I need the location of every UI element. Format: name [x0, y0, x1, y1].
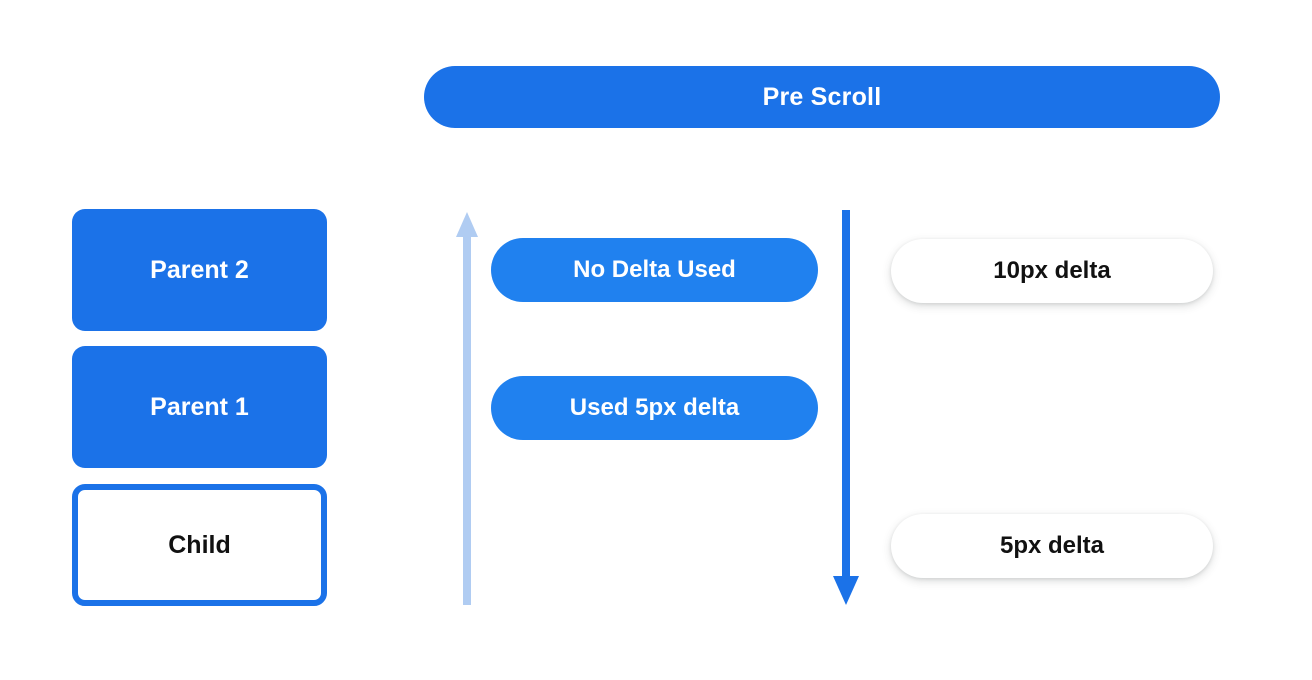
pill-no-delta-used: No Delta Used [491, 238, 818, 302]
node-parent-2-label: Parent 2 [150, 256, 249, 285]
node-parent-1: Parent 1 [72, 346, 327, 468]
pill-10px-delta-label: 10px delta [993, 257, 1110, 285]
pre-scroll-header-label: Pre Scroll [763, 83, 882, 112]
pill-used-5px-delta-label: Used 5px delta [570, 394, 739, 422]
pre-scroll-header: Pre Scroll [424, 66, 1220, 128]
pill-5px-delta-label: 5px delta [1000, 532, 1104, 560]
pill-10px-delta: 10px delta [891, 239, 1213, 303]
node-child-label: Child [168, 531, 231, 560]
pill-no-delta-used-label: No Delta Used [573, 256, 736, 284]
pill-used-5px-delta: Used 5px delta [491, 376, 818, 440]
node-parent-1-label: Parent 1 [150, 393, 249, 422]
pill-5px-delta: 5px delta [891, 514, 1213, 578]
node-parent-2: Parent 2 [72, 209, 327, 331]
diagram-canvas: Pre Scroll Parent 2 Parent 1 Child No De… [0, 0, 1312, 680]
node-child: Child [72, 484, 327, 606]
scroll-down-arrow-icon [833, 210, 859, 606]
scroll-up-arrow-icon [456, 211, 478, 605]
